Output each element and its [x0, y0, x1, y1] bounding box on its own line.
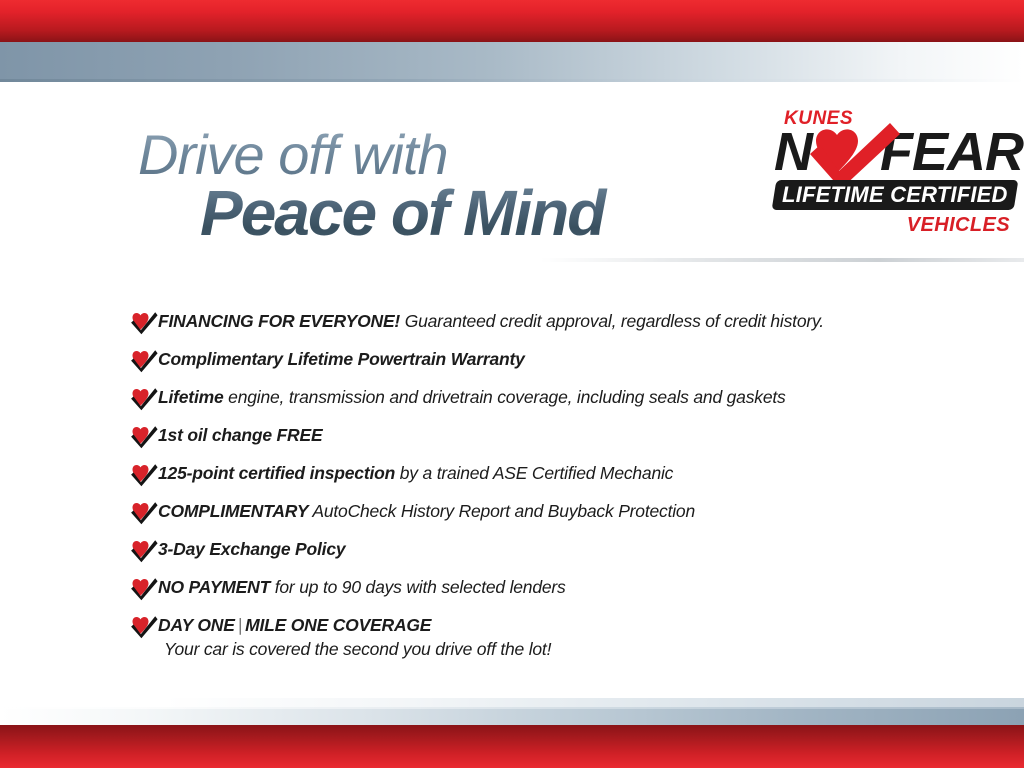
benefit-item: DAY ONE|MILE ONE COVERAGEYour car is cov…: [130, 614, 960, 659]
benefit-text: NO PAYMENT for up to 90 days with select…: [158, 576, 566, 598]
benefit-item: 3-Day Exchange Policy: [130, 538, 960, 562]
headline: Drive off with Peace of Mind: [138, 126, 758, 246]
headline-line-1: Drive off with: [138, 126, 758, 183]
heart-check-icon: [130, 349, 158, 373]
top-red-bar: [0, 0, 1024, 42]
benefit-text: Lifetime engine, transmission and drivet…: [158, 386, 786, 408]
heart-check-icon: [130, 311, 158, 335]
heart-check-icon: [130, 387, 158, 411]
benefit-text: 125-point certified inspection by a trai…: [158, 462, 673, 484]
benefit-text: 1st oil change FREE: [158, 424, 322, 446]
headline-line-2: Peace of Mind: [200, 181, 758, 246]
benefit-item: FINANCING FOR EVERYONE! Guaranteed credi…: [130, 310, 960, 334]
benefit-item: Lifetime engine, transmission and drivet…: [130, 386, 960, 410]
benefit-item: NO PAYMENT for up to 90 days with select…: [130, 576, 960, 600]
ad-banner-page: Drive off with Peace of Mind KUNES N FEA…: [0, 0, 1024, 768]
benefit-text: DAY ONE|MILE ONE COVERAGEYour car is cov…: [158, 614, 551, 659]
kunes-no-fear-logo: KUNES N FEAR LIFETIME CERTIFIED VEHICLES: [772, 108, 1016, 248]
header-divider: [540, 258, 1024, 262]
bottom-gray-bar: [0, 707, 1024, 725]
benefit-item: 125-point certified inspection by a trai…: [130, 462, 960, 486]
top-gray-bar: [0, 42, 1024, 82]
benefits-list: FINANCING FOR EVERYONE! Guaranteed credi…: [130, 310, 960, 673]
bottom-red-bar: [0, 725, 1024, 768]
heart-check-icon: [130, 577, 158, 601]
heart-check-icon: [130, 615, 158, 639]
benefit-item: COMPLIMENTARY AutoCheck History Report a…: [130, 500, 960, 524]
benefit-text: FINANCING FOR EVERYONE! Guaranteed credi…: [158, 310, 824, 332]
heart-check-icon: [130, 501, 158, 525]
benefit-item: Complimentary Lifetime Powertrain Warran…: [130, 348, 960, 372]
benefit-subtext: Your car is covered the second you drive…: [164, 639, 551, 660]
logo-nofear-wordmark: N FEAR: [772, 125, 1016, 181]
heart-check-icon: [130, 539, 158, 563]
benefit-item: 1st oil change FREE: [130, 424, 960, 448]
benefit-text: COMPLIMENTARY AutoCheck History Report a…: [158, 500, 695, 522]
logo-vehicles-text: VEHICLES: [907, 214, 1010, 237]
benefit-text: 3-Day Exchange Policy: [158, 538, 345, 560]
heart-check-icon: [130, 425, 158, 449]
logo-banner-text: LIFETIME CERTIFIED: [782, 182, 1008, 208]
heart-check-icon: [130, 463, 158, 487]
benefit-text: Complimentary Lifetime Powertrain Warran…: [158, 348, 525, 370]
logo-lifetime-certified-banner: LIFETIME CERTIFIED: [772, 180, 1019, 210]
